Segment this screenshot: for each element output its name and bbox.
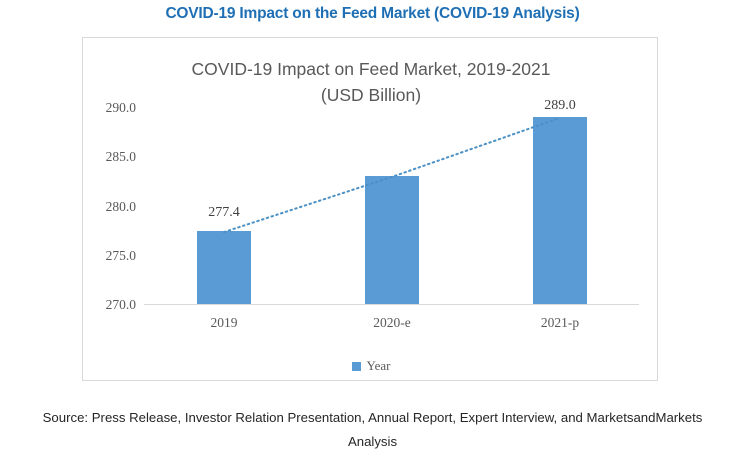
y-axis-tick-275: 275.0 <box>106 248 136 264</box>
legend-label-year: Year <box>367 358 391 374</box>
y-axis-tick-290: 290.0 <box>106 100 136 116</box>
x-axis-label-2021-p: 2021-p <box>515 315 605 331</box>
legend-swatch-icon <box>352 362 361 371</box>
y-axis-tick-285: 285.0 <box>106 149 136 165</box>
x-axis-label-2019: 2019 <box>179 315 269 331</box>
bar-2021-p[interactable] <box>533 117 587 304</box>
chart-container: COVID-19 Impact on Feed Market, 2019-202… <box>82 37 658 381</box>
data-label-2019: 277.4 <box>179 205 269 221</box>
source-note: Source: Press Release, Investor Relation… <box>8 406 737 454</box>
bar-2020-e[interactable] <box>365 176 419 304</box>
page-title: COVID-19 Impact on the Feed Market (COVI… <box>0 5 745 23</box>
chart-title-line1: COVID-19 Impact on Feed Market, 2019-202… <box>192 59 551 79</box>
source-note-line2: Analysis <box>8 430 737 454</box>
x-axis-line <box>144 304 639 305</box>
chart-legend: Year <box>83 358 659 374</box>
data-label-2021-p: 289.0 <box>515 98 605 114</box>
source-note-line1: Source: Press Release, Investor Relation… <box>43 410 703 425</box>
y-axis-tick-280: 280.0 <box>106 199 136 215</box>
plot-area: 290.0 285.0 280.0 275.0 270.0 277.4 289.… <box>144 108 639 305</box>
y-axis-tick-270: 270.0 <box>106 297 136 313</box>
x-axis-label-2020-e: 2020-e <box>347 315 437 331</box>
bar-2019[interactable] <box>197 231 251 304</box>
